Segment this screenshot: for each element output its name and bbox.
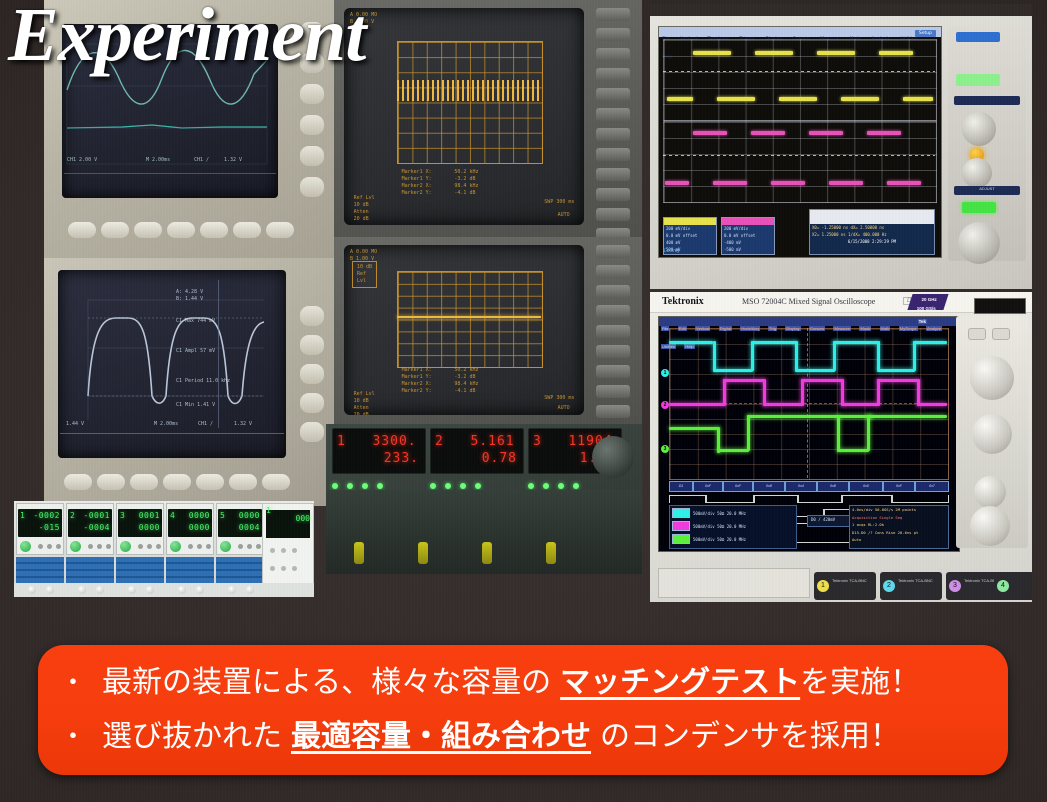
photo-orange-crt-top: A 0.00 MOB 1.00 V Marker1 X:Marker1 Y:Ma…: [334, 0, 642, 237]
bullet-marker-1: ・: [60, 656, 86, 710]
meter-rack-rotary-knob[interactable]: [592, 436, 634, 478]
legend-text-ch3: 500mV/div 50Ω 20.0 MHz: [693, 537, 746, 542]
lecroy-ground-ref-upper: [663, 71, 935, 72]
tek-ch2-marker[interactable]: 2: [661, 401, 669, 409]
green-edge: [747, 415, 750, 451]
bullet-line-2: ・ 選び抜かれた 最適容量・組み合わせ のコンデンサを採用！: [60, 710, 1008, 764]
psu-controller-unit: 1 000: [262, 503, 314, 589]
lecroy-run-led: [962, 202, 996, 213]
magenta-pulse: [713, 181, 747, 185]
psu-4-heatsink: [166, 557, 214, 585]
magenta-edge: [723, 379, 726, 406]
meter-1-indicators[interactable]: [332, 476, 424, 486]
yellow-pulse: [667, 97, 693, 101]
meter-2-top-value: 5.161: [470, 434, 514, 449]
tek-digital-bus: D10xF 0xF0x8 0x40x8 0x00xF 0x7: [669, 481, 947, 490]
tek-stat-1: 4.0ns/div 50.0GS/s 2M points: [850, 506, 948, 514]
cursor-timestamp: 6/15/2008 2:29:29 PM: [810, 238, 934, 245]
tek-bw-ghz: 20 GHz: [911, 294, 947, 303]
psu-3-channel: 3: [120, 511, 125, 520]
green-trace-low: [837, 449, 869, 452]
psu-controller-value: 000: [296, 514, 310, 523]
c2-color-swatch: [722, 218, 774, 225]
psu-5-value-top: 0000: [239, 511, 260, 520]
tek-panel-display: [974, 298, 1026, 314]
psu-unit-2: 2 -0001 -0004: [66, 503, 114, 555]
yellow-pulse: [693, 51, 731, 55]
cyan-trace-high: [669, 341, 713, 344]
c2-val2: -500 mV: [722, 246, 774, 253]
c2-offset: 0.0 mV offset: [722, 232, 774, 239]
scope-a-softkey-bar[interactable]: [64, 173, 276, 196]
c2-val1: -400 mV: [722, 239, 774, 246]
psu-1-heatsink: [16, 557, 64, 585]
lecroy-power-button[interactable]: [956, 32, 1000, 42]
tek-stat-3: 1 acqs RL:2.0k: [850, 521, 948, 529]
callout-box: ・ 最新の装置による、様々な容量の マッチングテスト を実施！ ・ 選び抜かれた…: [38, 645, 1008, 775]
meter-rack-lower-panel: [326, 490, 642, 574]
green-trace-high: [669, 427, 719, 430]
tek-menu-bar[interactable]: File Edit Vertical Digital Horiz/Acq Tri…: [659, 317, 959, 326]
lecroy-menu-bar[interactable]: File Vertical Timebase Trigger Display C…: [659, 27, 941, 37]
psu-2-value-bottom: -0004: [83, 523, 110, 532]
tek-ch3-marker[interactable]: 3: [661, 445, 669, 453]
tek-probe-row: 1 Tektronix TCA-BNC 2 Tektronix TCA-BNC …: [654, 568, 1028, 600]
yellow-pulse: [755, 51, 793, 55]
meter-unit-2: 2 5.161 0.78: [430, 428, 524, 474]
legend-text-ch1: 500mV/div 50Ω 20.0 MHz: [693, 511, 746, 516]
magenta-edge: [917, 379, 920, 406]
magenta-edge: [877, 379, 880, 406]
cyan-trace-low: [713, 369, 753, 372]
tek-model-label: MSO 72004C Mixed Signal Oscilloscope: [742, 297, 875, 306]
magenta-pulse: [771, 181, 805, 185]
yellow-pulse: [841, 97, 879, 101]
green-trace-high: [747, 415, 873, 418]
probe-4-number: 4: [997, 580, 1009, 592]
tek-channel-legend: 500mV/div 50Ω 20.0 MHz 500mV/div 50Ω 20.…: [669, 505, 797, 549]
bullet-2-seg-1: 選び抜かれた: [102, 710, 282, 764]
scope-b-measure-2: B: 1.44 V: [176, 296, 203, 303]
cyan-edge: [713, 341, 716, 371]
magenta-pulse: [887, 181, 921, 185]
yellow-pulse: [903, 97, 933, 101]
tek-stat-2: Acquisition Single Seq: [850, 514, 948, 522]
cursor-line-1: X0= -1.25000 ns dX= 2.50000 ns: [810, 224, 934, 231]
lecroy-panel-divider-top: [954, 96, 1020, 105]
psu-4-value-bottom: 0000: [189, 523, 210, 532]
lecroy-logo: LeCroy: [664, 248, 680, 254]
legend-row: 500mV/div 50Ω 20.0 MHz: [672, 533, 794, 545]
tek-front-panel[interactable]: [956, 316, 1028, 548]
photo-analog-scope-mid-left: A: 4.28 V B: 1.44 V C1 Max 744 mV C1 Amp…: [44, 258, 334, 506]
meter-unit-1: 1 3300. 233.: [332, 428, 426, 474]
meter-1-top-value: 3300.: [372, 434, 416, 449]
scope-b-timebase: M 2.00ms: [154, 421, 178, 428]
crt-graticule: [397, 271, 543, 368]
psu-3-heatsink: [116, 557, 164, 585]
magenta-pulse: [665, 181, 689, 185]
psu-1-controls[interactable]: [18, 541, 62, 553]
lecroy-ground-ref-lower: [663, 155, 935, 156]
psu-unit-1: 1 -0002 -015: [16, 503, 64, 555]
tek-default-setup-button[interactable]: [992, 328, 1010, 340]
psu-2-heatsink: [66, 557, 114, 585]
tek-bandwidth-badge: 20 GHz 100 GS/s: [907, 294, 948, 310]
magenta-pulse: [867, 131, 901, 135]
probe-2-number: 2: [883, 580, 895, 592]
scope-b-side-keys[interactable]: [298, 306, 328, 446]
magenta-trace-high: [877, 379, 919, 382]
crt-burst-waveform: [397, 80, 541, 102]
psu-4-value-top: 0000: [189, 511, 210, 520]
tek-stat-4: D15-D0 /? Cons Rise 20.6ns pt: [850, 529, 948, 537]
lecroy-knob-timebase[interactable]: [962, 158, 992, 188]
scope-b-measure-3: C1 Max 744 mV: [176, 318, 215, 325]
photo-tektronix-mso: Tektronix MSO 72004C Mixed Signal Oscill…: [650, 292, 1032, 602]
psu-unit-5: 5 0000 0004: [216, 503, 264, 555]
tek-knob-offset[interactable]: [970, 506, 1010, 546]
magenta-pulse: [829, 181, 863, 185]
probe-2-label: Tektronix TCA-BNC: [898, 578, 933, 584]
psu-2-controls[interactable]: [68, 541, 112, 553]
tek-brand-logo: Tektronix: [662, 296, 704, 307]
tek-autoset-button[interactable]: [968, 328, 986, 340]
magenta-trace-low: [917, 403, 947, 406]
cyan-trace-low: [877, 369, 915, 372]
cyan-edge: [795, 341, 798, 371]
meter-2-indicators[interactable]: [430, 476, 522, 486]
c1-color-swatch: [664, 218, 716, 225]
magenta-pulse: [809, 131, 843, 135]
green-trace-high: [867, 415, 947, 418]
scope-a-bottom-keys[interactable]: [68, 222, 318, 244]
tek-stat-5: Auto: [850, 536, 948, 544]
meter-1-channel: 1: [337, 434, 346, 449]
tek-media-slot[interactable]: [658, 568, 810, 598]
crt-b-side-buttons[interactable]: [590, 245, 636, 417]
psu-controller-channel: 1: [266, 506, 271, 515]
scope-b-ch1: 1.44 V: [66, 421, 84, 428]
crt-screen: A 0.00 MOB 1.00 V 10 dBRefLvl Marker1 X:…: [344, 245, 584, 415]
lecroy-knob-vertical[interactable]: [962, 112, 996, 146]
crt-flat-waveform: [397, 316, 541, 318]
psu-1-value-top: -0002: [33, 511, 60, 520]
crt-graticule: [397, 41, 543, 165]
cyan-trace-high: [751, 341, 797, 344]
psu-5-channel: 5: [220, 511, 225, 520]
magenta-pulse: [751, 131, 785, 135]
lecroy-screen: File Vertical Timebase Trigger Display C…: [658, 26, 942, 258]
lecroy-footer: 200 mV/div 0.0 mV offset 400 mV 500 mV 2…: [663, 207, 935, 255]
tek-probe-4[interactable]: 4: [994, 572, 1032, 600]
magenta-edge: [841, 379, 844, 406]
probe-1-number: 1: [817, 580, 829, 592]
psu-1-channel: 1: [20, 511, 25, 520]
tek-knob-horizontal-scale[interactable]: [972, 414, 1012, 454]
meter-3-indicators[interactable]: [528, 476, 620, 486]
lecroy-cursor-readout: X0= -1.25000 ns dX= 2.50000 ns X2= 1.250…: [809, 209, 935, 255]
cyan-trace-high: [913, 341, 947, 344]
crt-screen: A 0.00 MOB 1.00 V Marker1 X:Marker1 Y:Ma…: [344, 8, 584, 225]
psu-3-controls[interactable]: [118, 541, 162, 553]
cursor-line-2: X2= 1.25000 ns 1/dX= 400.000 Hz: [810, 231, 934, 238]
scope-b-bottom-keys[interactable]: [64, 474, 314, 496]
psu-3-value-bottom: 0000: [139, 523, 160, 532]
cyan-edge: [833, 341, 836, 371]
lecroy-status-led-green: [956, 74, 1000, 86]
psu-3-value-top: 0001: [139, 511, 160, 520]
psu-5-value-bottom: 0004: [239, 523, 260, 532]
tek-screen: File Edit Vertical Digital Horiz/Acq Tri…: [658, 316, 960, 552]
psu-4-channel: 4: [170, 511, 175, 520]
bullet-2-seg-2-underlined: 最適容量・組み合わせ: [291, 710, 591, 764]
cyan-edge: [751, 341, 754, 371]
magenta-edge: [763, 379, 766, 406]
legend-swatch-ch1: [672, 508, 690, 518]
bullet-1-seg-1: 最新の装置による、様々な容量の: [102, 656, 551, 710]
legend-row: 500mV/div 50Ω 20.0 MHz: [672, 507, 794, 519]
crt-a-side-buttons[interactable]: [590, 8, 636, 227]
photo-orange-crt-bottom: A 0.00 MOB 1.00 V 10 dBRefLvl Marker1 X:…: [334, 237, 642, 427]
c2-scale: 200 mV/div: [722, 225, 774, 232]
scope-b-trigger: CH1 /: [198, 421, 213, 428]
slide-root: CH1 2.00 V M 2.00ms CH1 / 1.32 V: [0, 0, 1047, 802]
c1-offset: 0.0 mV offset: [664, 232, 716, 239]
photo-green-led-power-supplies: 1 -0002 -015 2 -0001 -0004: [14, 501, 314, 597]
c1-val1: 400 mV: [664, 239, 716, 246]
scope-screen: A: 4.28 V B: 1.44 V C1 Max 744 mV C1 Amp…: [58, 270, 286, 458]
scope-a-trigger: CH1 /: [194, 157, 209, 164]
meter-2-channel: 2: [435, 434, 444, 449]
lecroy-front-panel[interactable]: ADJUST: [948, 26, 1026, 261]
bullet-1-seg-3: を実施！: [800, 656, 920, 710]
meter-3-channel: 3: [533, 434, 542, 449]
scope-b-measure-6: C1 Min 1.41 V: [176, 402, 215, 409]
cyan-trace-low: [795, 369, 835, 372]
bullet-2-seg-3: のコンデンサを採用！: [600, 710, 900, 764]
green-edge: [867, 415, 870, 451]
green-edge: [837, 415, 840, 451]
legend-row: 500mV/div 50Ω 20.0 MHz: [672, 520, 794, 532]
lecroy-setup-button[interactable]: Setup: [915, 30, 936, 37]
lecroy-top-bar: [650, 4, 1032, 16]
tek-bw-gss: 100 GS/s: [908, 303, 944, 312]
psu-4-controls[interactable]: [168, 541, 212, 553]
psu-2-value-top: -0001: [83, 511, 110, 520]
yellow-pulse: [717, 97, 755, 101]
scope-a-timebase: M 2.00ms: [146, 157, 170, 164]
scope-b-measure-4: C1 Ampl 57 mV: [176, 348, 215, 355]
psu-unit-4: 4 0000 0000: [166, 503, 214, 555]
meter-2-bottom-value: 0.78: [482, 451, 517, 466]
legend-swatch-ch2: [672, 521, 690, 531]
magenta-trace-high: [723, 379, 765, 382]
yellow-pulse: [879, 51, 913, 55]
cyan-edge: [913, 341, 916, 371]
psu-2-channel: 2: [70, 511, 75, 520]
tek-status-readout: 4.0ns/div 50.0GS/s 2M points Acquisition…: [849, 505, 949, 549]
legend-swatch-ch3: [672, 534, 690, 544]
yellow-pulse: [779, 97, 817, 101]
bullet-marker-2: ・: [60, 710, 86, 764]
psu-unit-3: 3 0001 0000: [116, 503, 164, 555]
magenta-pulse: [693, 131, 727, 135]
bullet-line-1: ・ 最新の装置による、様々な容量の マッチングテスト を実施！: [60, 656, 1008, 710]
photo-lecroy-oscilloscope: File Vertical Timebase Trigger Display C…: [650, 4, 1032, 289]
psu-5-heatsink: [216, 557, 264, 585]
tek-ch1-marker[interactable]: 1: [661, 369, 669, 377]
probe-1-label: Tektronix TCA-BNC: [832, 578, 867, 584]
scope-a-readout: CH1 2.00 V: [67, 157, 97, 164]
tek-probe-2[interactable]: 2 Tektronix TCA-BNC: [880, 572, 942, 600]
lecroy-adjust-knob[interactable]: [958, 222, 1000, 264]
cyan-edge: [877, 341, 880, 371]
legend-text-ch2: 500mV/div 50Ω 20.0 MHz: [693, 524, 746, 529]
page-title: Experiment: [8, 0, 365, 79]
scope-a-level: 1.32 V: [224, 157, 242, 164]
psu-1-value-bottom: -015: [39, 523, 60, 532]
scope-b-softkey-bar[interactable]: [60, 433, 284, 456]
probe-3-number: 3: [949, 580, 961, 592]
tek-knob-resolution[interactable]: [974, 476, 1006, 508]
bullet-1-seg-2-underlined: マッチングテスト: [560, 656, 800, 710]
c1-scale: 200 mV/div: [664, 225, 716, 232]
magenta-trace-low: [763, 403, 803, 406]
tek-digital-row-d0: [669, 493, 947, 504]
lecroy-adjust-label: ADJUST: [954, 186, 1020, 195]
scope-b-measure-1: A: 4.28 V: [176, 288, 203, 296]
lecroy-channel-badge-c2[interactable]: 200 mV/div 0.0 mV offset -400 mV -500 mV: [721, 217, 775, 255]
scope-b-side-menu[interactable]: [218, 280, 282, 428]
yellow-pulse: [817, 51, 855, 55]
tek-knob-vertical-scale[interactable]: [970, 356, 1014, 400]
magenta-trace-low: [841, 403, 879, 406]
magenta-trace-low: [669, 403, 725, 406]
photo-red-led-meters: 1 3300. 233. 2 5.161 0.78 3: [326, 424, 642, 574]
green-trace-low: [717, 449, 749, 452]
psu-terminal-row: [14, 583, 314, 597]
psu-controller-keypad[interactable]: [267, 542, 309, 584]
tek-trigger-cursor[interactable]: [807, 328, 808, 478]
magenta-edge: [801, 379, 804, 406]
magenta-trace-high: [801, 379, 843, 382]
photo-collage: CH1 2.00 V M 2.00ms CH1 / 1.32 V: [0, 0, 1047, 615]
tek-logo-small: Tek: [918, 319, 927, 324]
meter-1-bottom-value: 233.: [384, 451, 419, 466]
tek-probe-1[interactable]: 1 Tektronix TCA-BNC: [814, 572, 876, 600]
psu-5-controls[interactable]: [218, 541, 262, 553]
cyan-trace-high: [833, 341, 879, 344]
